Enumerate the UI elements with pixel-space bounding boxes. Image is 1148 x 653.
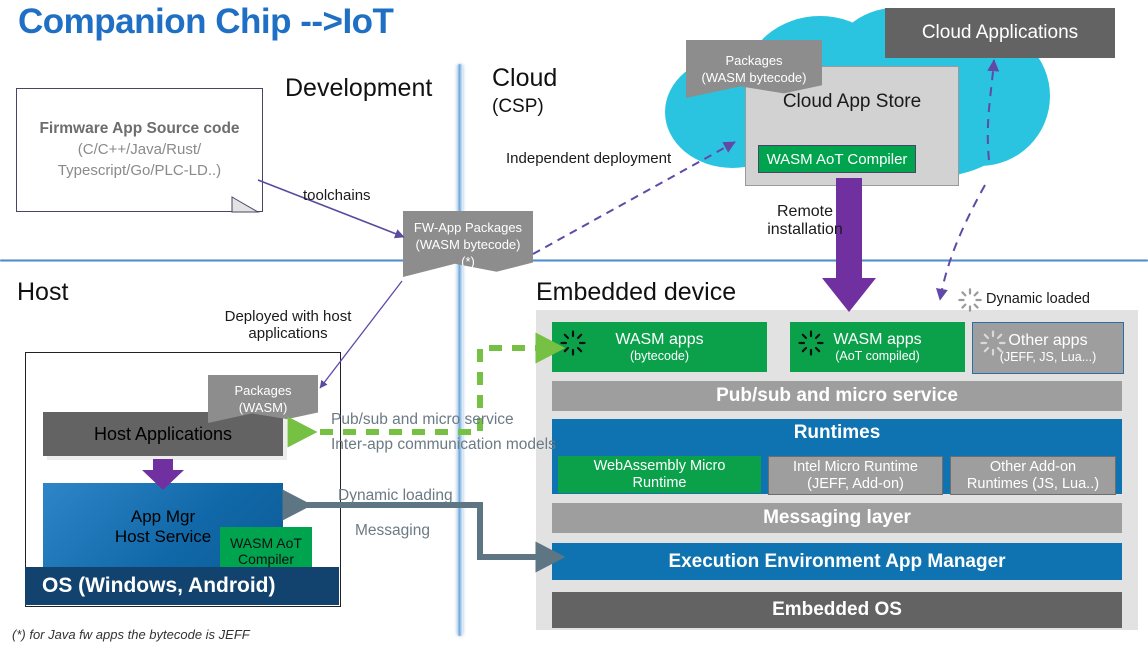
embedded-app-1-name: WASM apps: [833, 331, 921, 349]
host-os-box: OS (Windows, Android): [25, 567, 339, 605]
embedded-runtime-1-line2: (JEFF, Add-on): [807, 476, 904, 493]
dynamic-loaded-legend-label: Dynamic loaded: [986, 291, 1090, 307]
cloud-packages-line1: Packages: [725, 52, 782, 69]
fw-app-packages-line2: (WASM bytecode): [416, 236, 521, 253]
firmware-source-box: Firmware App Source code (C/C++/Java/Rus…: [16, 88, 263, 212]
pubsub-models-line1: Pub/sub and micro service: [331, 411, 514, 429]
remote-installation-label: Remote installation: [745, 203, 865, 239]
independent-deployment-label: Independent deployment: [506, 150, 671, 167]
cloud-packages-line2: (WASM bytecode): [702, 69, 807, 86]
firmware-source-line2: Typescript/Go/PLC-LD..): [58, 160, 221, 181]
embedded-app-0-sub: (bytecode): [630, 349, 689, 363]
fw-app-packages-note: FW-App Packages (WASM bytecode) (*): [403, 211, 533, 277]
embedded-os-box: Embedded OS: [552, 592, 1122, 628]
zone-label-host: Host: [17, 278, 68, 307]
embedded-messaging-layer: Messaging layer: [552, 503, 1122, 533]
pubsub-models-line2: Inter-app communication models: [331, 436, 556, 454]
embedded-runtime-0-line1: WebAssembly Micro: [594, 458, 726, 475]
host-aot-line1: WASM AoT: [230, 535, 302, 551]
dynamic-loaded-icon: [980, 330, 1006, 361]
embedded-runtime-0-line2: Runtime: [633, 475, 687, 492]
fw-app-packages-line1: FW-App Packages: [414, 219, 522, 236]
dynamic-loading-label: Dynamic loading: [338, 487, 453, 505]
embedded-runtime-intel-micro: Intel Micro Runtime (JEFF, Add-on): [768, 456, 943, 495]
dynamic-load-dashed-arrow: [940, 185, 985, 300]
cloud-aot-compiler-label: WASM AoT Compiler: [767, 151, 908, 168]
dynamic-loaded-icon: [798, 330, 824, 361]
footnote: (*) for Java fw apps the bytecode is JEF…: [12, 627, 250, 642]
deployed-with-host-label: Deployed with host applications: [208, 308, 368, 342]
app-mgr-line1: App Mgr: [131, 507, 195, 527]
zone-label-development: Development: [285, 74, 432, 103]
dynamic-loaded-legend-icon: [958, 288, 982, 317]
embedded-app-2-sub: (JEFF, JS, Lua...): [1000, 350, 1097, 364]
remote-installation-arrow: [822, 178, 876, 312]
toolchains-label: toolchains: [303, 187, 371, 204]
remote-line1: Remote: [777, 203, 833, 221]
cloud-applications-box: Cloud Applications: [885, 8, 1115, 58]
embedded-exec-env-app-manager: Execution Environment App Manager: [552, 543, 1122, 580]
host-os-label: OS (Windows, Android): [42, 574, 276, 598]
embedded-exec-env-label: Execution Environment App Manager: [668, 551, 1005, 573]
embedded-os-label: Embedded OS: [772, 599, 902, 621]
app-mgr-line2: Host Service: [115, 527, 211, 547]
deployed-line2: applications: [248, 325, 327, 342]
host-aot-line2: Compiler: [238, 551, 294, 567]
embedded-runtime-2-line2: Runtimes (JS, Lua..): [967, 476, 1099, 493]
host-packages-line1: Packages: [234, 382, 291, 399]
messaging-label: Messaging: [355, 522, 430, 540]
embedded-runtime-other-addon: Other Add-on Runtimes (JS, Lua..): [950, 456, 1116, 495]
embedded-pubsub-layer: Pub/sub and micro service: [552, 381, 1122, 411]
firmware-source-title: Firmware App Source code: [39, 119, 239, 139]
remote-line2: installation: [767, 221, 843, 239]
firmware-source-line1: (C/C++/Java/Rust/: [78, 139, 201, 160]
deployed-line1: Deployed with host: [225, 308, 352, 325]
embedded-runtime-wasm-micro: WebAssembly Micro Runtime: [558, 456, 761, 493]
zone-label-cloud-sub: (CSP): [492, 96, 544, 118]
host-applications-box: Host Applications: [43, 412, 283, 456]
embedded-runtime-2-line1: Other Add-on: [990, 459, 1076, 476]
horizontal-divider-top: [0, 259, 1148, 262]
embedded-runtimes-title: Runtimes: [552, 419, 1122, 447]
cloud-aot-compiler-box: WASM AoT Compiler: [758, 145, 916, 173]
fw-app-packages-line3: (*): [461, 253, 475, 270]
dynamic-loaded-icon: [560, 330, 586, 361]
embedded-pubsub-label: Pub/sub and micro service: [716, 385, 958, 407]
page-title: Companion Chip -->IoT: [18, 2, 393, 42]
host-packages-line2: (WASM): [239, 399, 288, 416]
embedded-app-2-name: Other apps: [1008, 332, 1087, 350]
zone-label-embedded-device: Embedded device: [536, 278, 736, 307]
embedded-runtime-1-line1: Intel Micro Runtime: [793, 459, 918, 476]
embedded-app-1-sub: (AoT compiled): [835, 349, 920, 363]
cloud-applications-label: Cloud Applications: [922, 22, 1078, 44]
host-applications-label: Host Applications: [94, 424, 232, 445]
embedded-app-0-name: WASM apps: [615, 331, 703, 349]
vertical-divider: [457, 64, 463, 636]
embedded-messaging-label: Messaging layer: [763, 507, 911, 529]
zone-label-cloud: Cloud: [492, 64, 557, 93]
